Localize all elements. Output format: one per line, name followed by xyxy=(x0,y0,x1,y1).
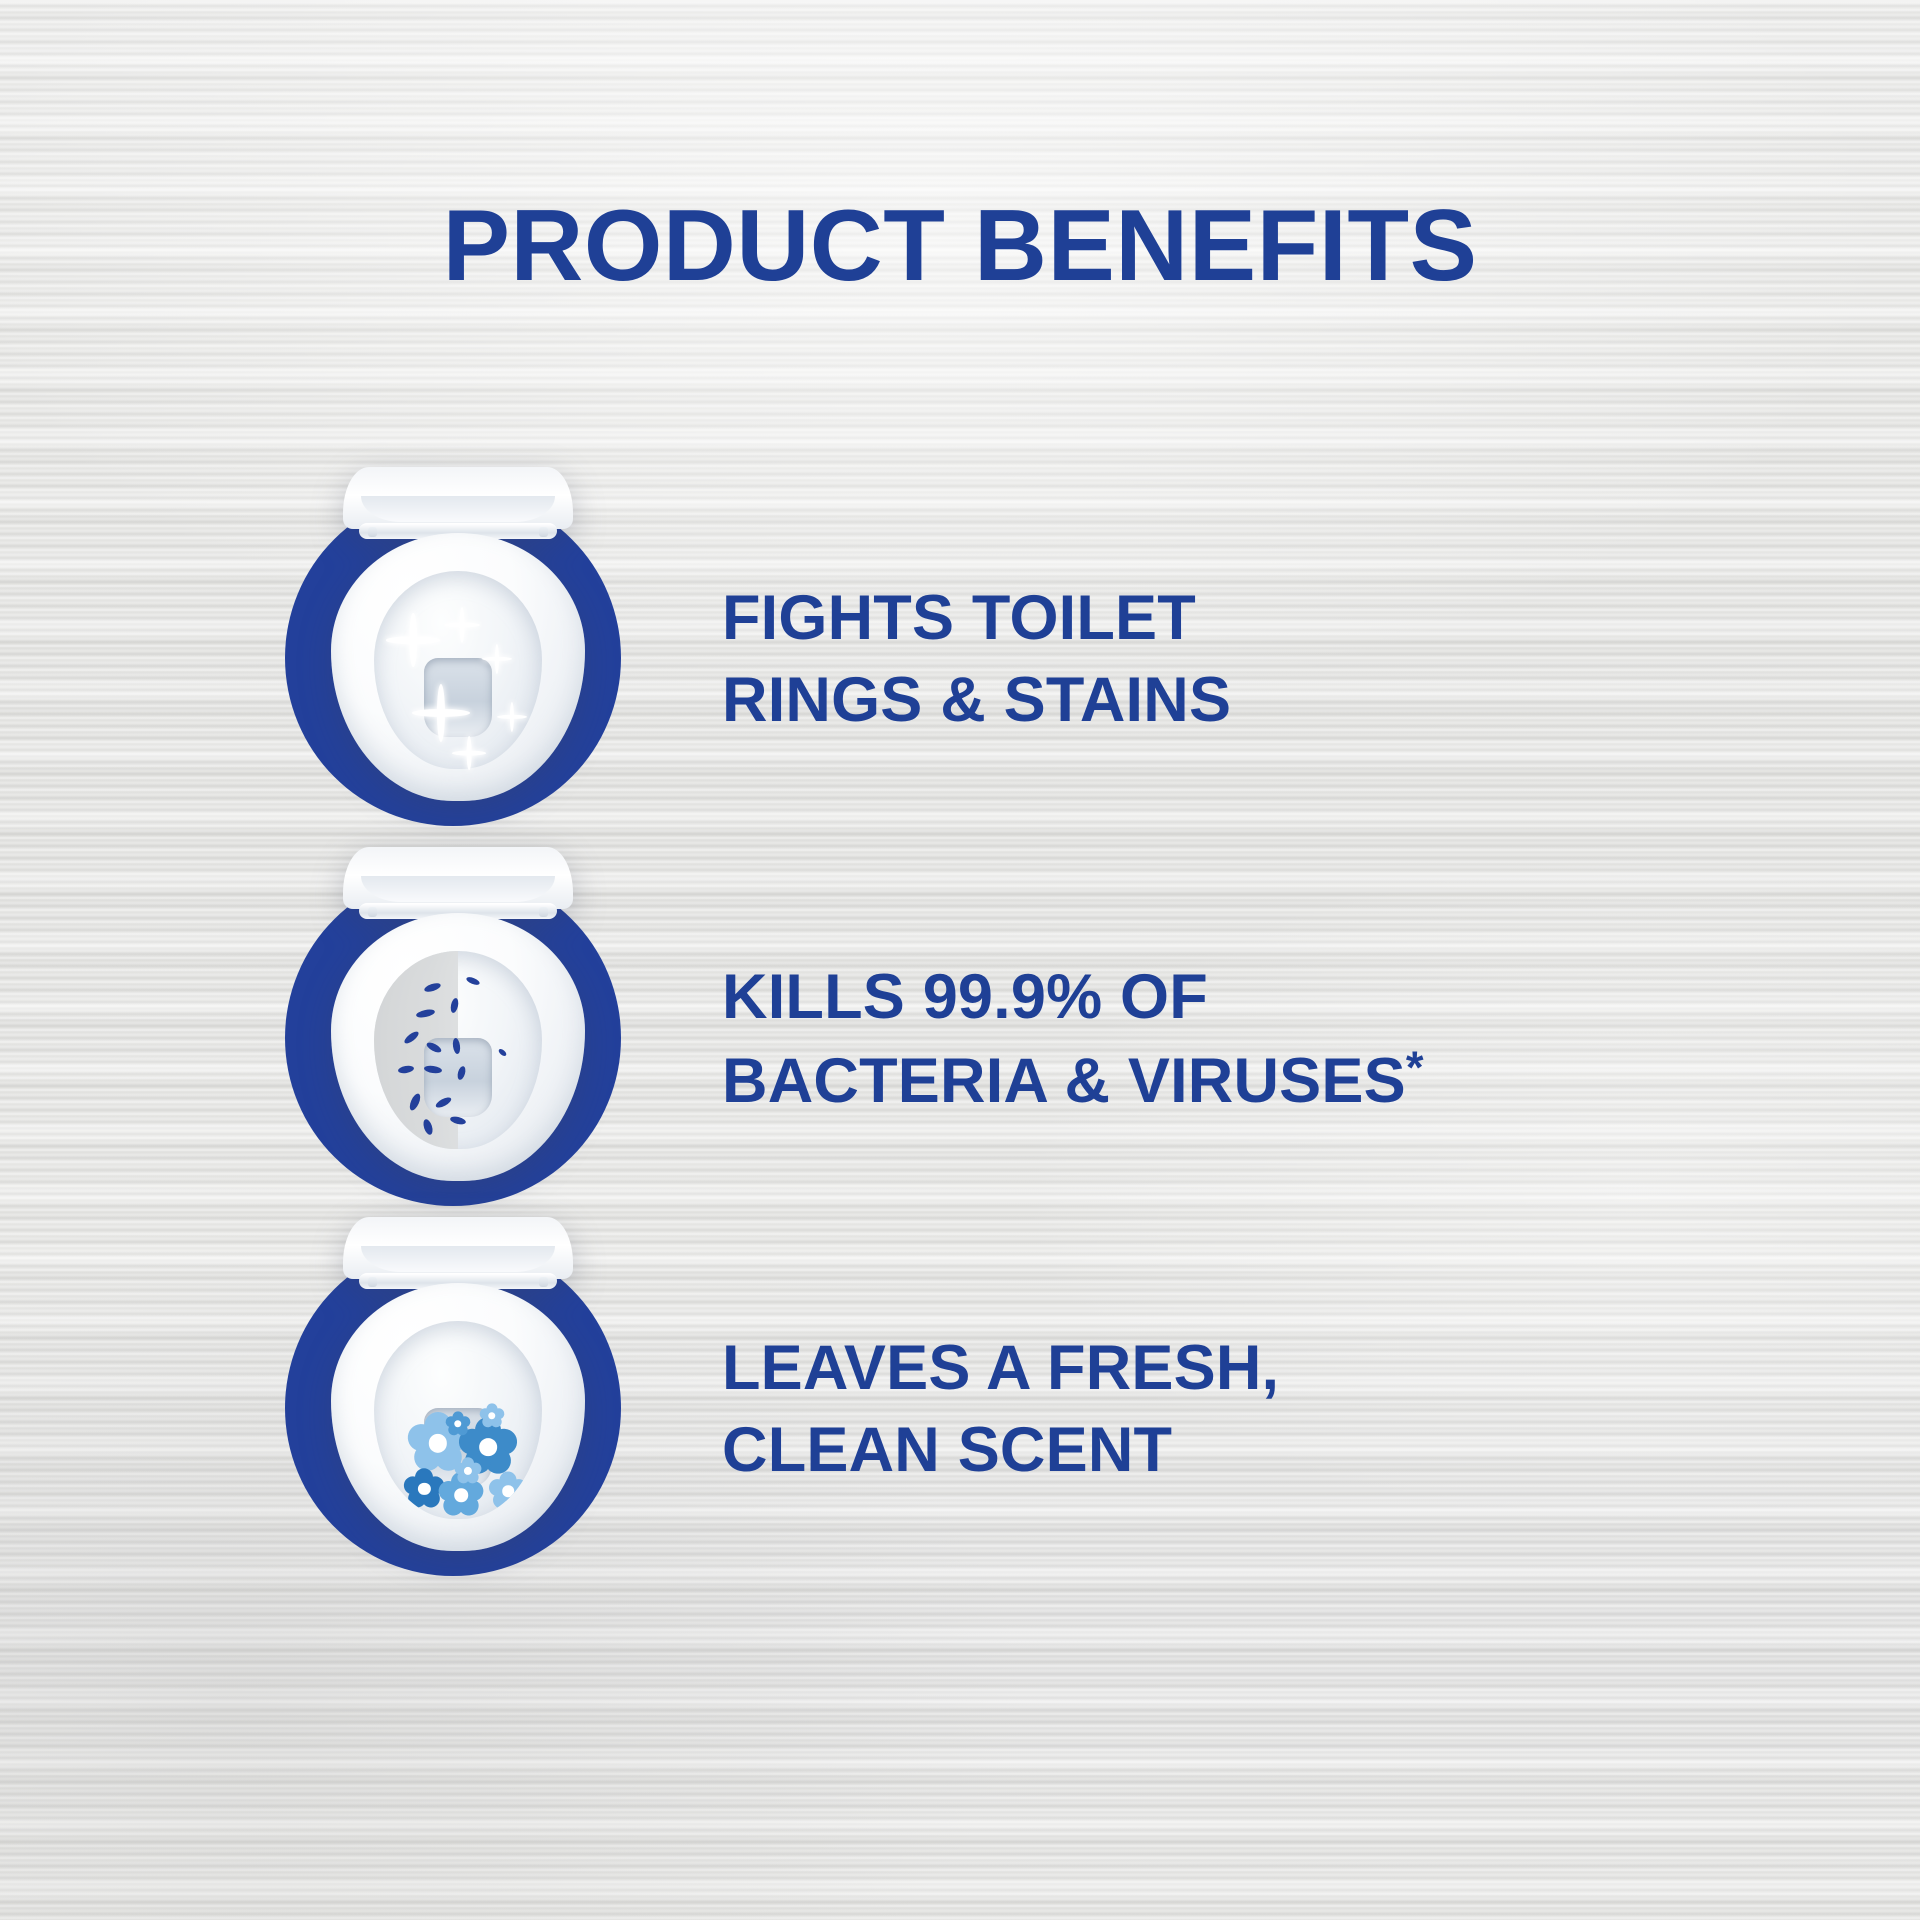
toilet-lid xyxy=(343,847,573,909)
benefit-line-2: BACTERIA & VIRUSES* xyxy=(722,1039,1424,1123)
toilet-bowl-interior xyxy=(374,951,542,1149)
toilet-bowl-bacteria-split-icon xyxy=(285,845,675,1235)
sparkle-icon xyxy=(386,613,440,667)
toilet-bowl-rim xyxy=(331,1283,585,1551)
sparkle-icon xyxy=(497,702,527,732)
product-benefits-page: PRODUCT BENEFITS FIGHTS TO xyxy=(0,0,1920,1920)
benefit-row: FIGHTS TOILET RINGS & STAINS xyxy=(0,465,1920,855)
bacteria-icon xyxy=(466,976,481,987)
benefit-text: FIGHTS TOILET RINGS & STAINS xyxy=(722,578,1231,742)
toilet-bowl-interior xyxy=(374,1321,542,1519)
benefit-text: KILLS 99.9% OF BACTERIA & VIRUSES* xyxy=(722,957,1424,1123)
benefit-row: LEAVES A FRESH, CLEAN SCENT xyxy=(0,1215,1920,1605)
page-title: PRODUCT BENEFITS xyxy=(0,196,1920,297)
flower-icon xyxy=(456,1459,480,1483)
toilet-illustration xyxy=(329,845,587,1185)
flower-icon xyxy=(491,1474,525,1508)
benefit-line-1: KILLS 99.9% OF xyxy=(722,957,1424,1039)
benefit-line-1: FIGHTS TOILET xyxy=(722,578,1231,660)
toilet-bowl-sparkling-icon xyxy=(285,465,675,855)
benefit-text: LEAVES A FRESH, CLEAN SCENT xyxy=(722,1328,1279,1492)
flower-icon xyxy=(406,1471,442,1507)
toilet-bowl-rim xyxy=(331,913,585,1181)
benefit-line-2: CLEAN SCENT xyxy=(722,1410,1279,1492)
benefit-line-2: RINGS & STAINS xyxy=(722,660,1231,742)
toilet-lid xyxy=(343,1217,573,1279)
sparkle-icon xyxy=(412,684,470,742)
benefit-line-1: LEAVES A FRESH, xyxy=(722,1328,1279,1410)
flower-icon xyxy=(447,1413,469,1435)
toilet-illustration xyxy=(329,1215,587,1555)
toilet-lid xyxy=(343,467,573,529)
sparkle-icon xyxy=(444,607,480,643)
bacteria-icon xyxy=(498,1047,508,1057)
toilet-illustration xyxy=(329,465,587,805)
sparkle-icon xyxy=(452,736,486,770)
flower-icon xyxy=(481,1405,503,1427)
benefit-row: KILLS 99.9% OF BACTERIA & VIRUSES* xyxy=(0,845,1920,1235)
benefit-line-2-text: BACTERIA & VIRUSES xyxy=(722,1046,1406,1116)
footnote-asterisk: * xyxy=(1406,1042,1424,1093)
sparkle-icon xyxy=(482,644,512,674)
toilet-bowl-fresh-scent-icon xyxy=(285,1215,675,1605)
